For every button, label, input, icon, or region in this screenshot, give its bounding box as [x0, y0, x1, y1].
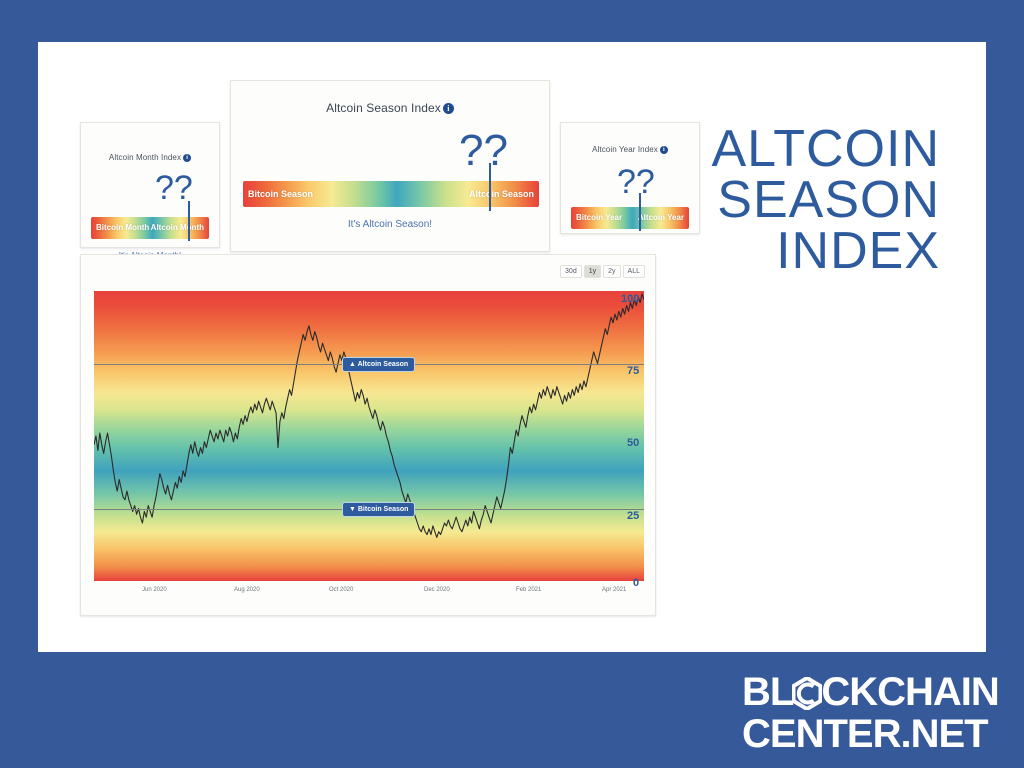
y-tick-100: 100 — [621, 293, 639, 305]
page-title-line-1: ALTCOIN — [640, 124, 940, 175]
bar-right-label: Altcoin Season — [469, 181, 534, 207]
altcoin-season-marker — [489, 163, 491, 211]
x-tick-aug-2020: Aug 2020 — [234, 587, 260, 593]
altcoin-month-index-card[interactable]: Altcoin Month Indexi ?? Bitcoin Month Al… — [80, 122, 220, 248]
index-line-series — [94, 291, 644, 581]
altcoin-season-index-card[interactable]: Altcoin Season Indexi ?? Bitcoin Season … — [230, 80, 550, 252]
index-cards-row: Altcoin Month Indexi ?? Bitcoin Month Al… — [80, 80, 700, 252]
altcoin-season-index-title: Altcoin Season Indexi — [231, 101, 549, 115]
x-tick-dec-2020: Dec 2020 — [424, 587, 450, 593]
bar-right-label: Altcoin Month — [151, 217, 204, 239]
screenshot-root: Altcoin Month Indexi ?? Bitcoin Month Al… — [0, 0, 1024, 768]
altcoin-month-index-value: ?? — [155, 171, 193, 205]
blockchaincenter-logo[interactable]: BL CKCHAIN CENTER.NET — [742, 672, 992, 754]
altcoin-season-chart-panel: 30d 1y 2y ALL ▲ Altcoin Season ▼ Bitcoin… — [80, 254, 656, 616]
bar-left-label: Bitcoin Month — [96, 217, 149, 239]
x-tick-jun-2020: Jun 2020 — [142, 587, 167, 593]
logo-text-ckchain: CKCHAIN — [821, 670, 998, 714]
logo-line-2: CENTER.NET — [742, 714, 992, 754]
logo-text-bl: BL — [742, 670, 793, 714]
y-tick-25: 25 — [627, 510, 639, 522]
content-panel: Altcoin Month Indexi ?? Bitcoin Month Al… — [38, 42, 986, 652]
altcoin-season-index-value: ?? — [459, 129, 508, 173]
altcoin-month-marker — [188, 201, 190, 241]
time-range-button-group[interactable]: 30d 1y 2y ALL — [560, 265, 645, 278]
info-icon[interactable]: i — [183, 154, 191, 162]
x-axis-labels: Jun 2020 Aug 2020 Oct 2020 Dec 2020 Feb … — [94, 587, 644, 599]
x-tick-oct-2020: Oct 2020 — [329, 587, 353, 593]
card-title-text: Altcoin Month Index — [109, 153, 181, 162]
altcoin-month-gradient-bar: Bitcoin Month Altcoin Month — [91, 217, 209, 239]
info-icon[interactable]: i — [443, 103, 454, 114]
range-button-1y[interactable]: 1y — [584, 265, 601, 278]
page-title: ALTCOIN SEASON INDEX — [640, 124, 940, 277]
hexagon-o-icon — [792, 677, 822, 710]
range-button-30d[interactable]: 30d — [560, 265, 582, 278]
card-title-text: Altcoin Season Index — [326, 101, 441, 115]
altcoin-season-caption: It's Altcoin Season! — [231, 219, 549, 230]
bitcoin-season-badge[interactable]: ▼ Bitcoin Season — [342, 502, 415, 517]
x-tick-apr-2021: Apr 2021 — [602, 587, 626, 593]
altcoin-month-index-title: Altcoin Month Indexi — [81, 153, 219, 162]
x-tick-feb-2021: Feb 2021 — [516, 587, 541, 593]
page-title-line-3: INDEX — [640, 226, 940, 277]
y-tick-50: 50 — [627, 437, 639, 449]
y-tick-75: 75 — [627, 365, 639, 377]
altcoin-season-badge[interactable]: ▲ Altcoin Season — [342, 357, 415, 372]
range-button-2y[interactable]: 2y — [603, 265, 620, 278]
altcoin-season-gradient-bar: Bitcoin Season Altcoin Season — [243, 181, 539, 207]
bar-left-label: Bitcoin Year — [576, 207, 622, 229]
bar-left-label: Bitcoin Season — [248, 181, 313, 207]
chart-plot-area[interactable]: ▲ Altcoin Season ▼ Bitcoin Season — [94, 291, 644, 581]
logo-line-1: BL CKCHAIN — [742, 672, 992, 712]
page-title-line-2: SEASON — [640, 175, 940, 226]
